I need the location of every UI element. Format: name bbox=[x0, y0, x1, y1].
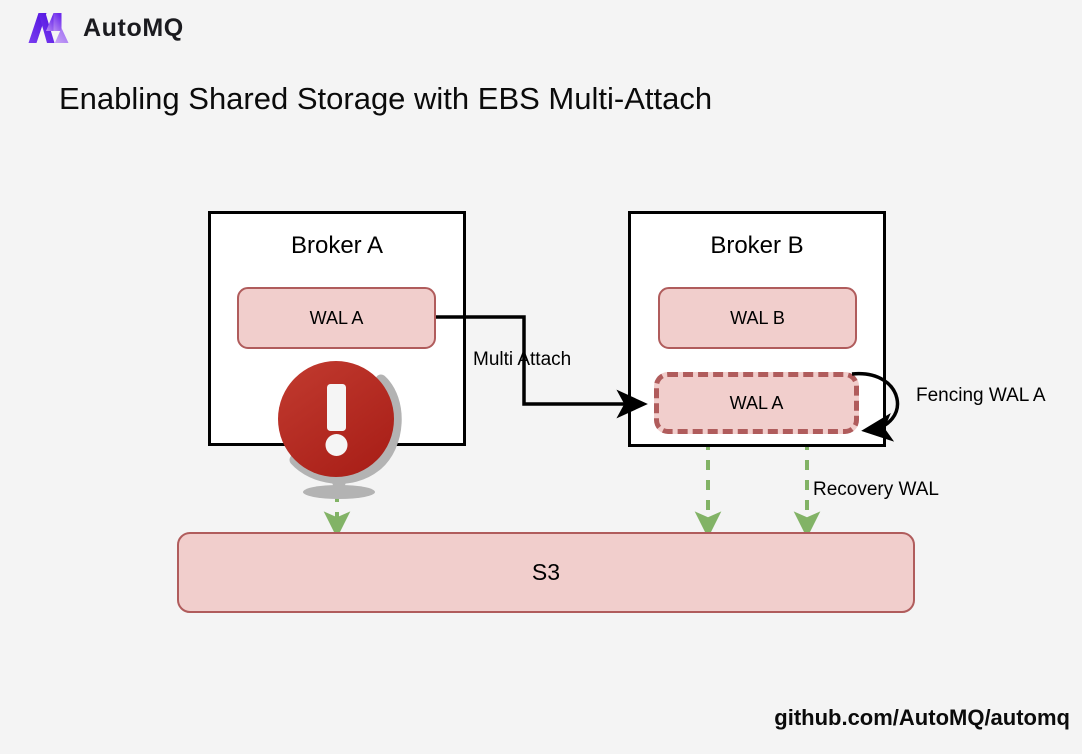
label-multi-attach: Multi Attach bbox=[473, 349, 571, 371]
wal-a-broker-a-box[interactable]: WAL A bbox=[237, 287, 436, 349]
exclamation-dot bbox=[326, 434, 348, 456]
black-arrow-layer bbox=[0, 0, 1082, 754]
broker-a-failure-icon-group bbox=[271, 356, 407, 508]
s3-label: S3 bbox=[532, 559, 560, 586]
broker-b-title: Broker B bbox=[631, 232, 883, 260]
label-fencing-wal-a: Fencing WAL A bbox=[916, 385, 1046, 407]
green-arrow-layer bbox=[0, 0, 1082, 754]
alert-exclamation-icon bbox=[271, 356, 407, 508]
wal-a-broker-b-box[interactable]: WAL A bbox=[654, 372, 859, 434]
label-recovery-wal: Recovery WAL bbox=[813, 479, 939, 501]
github-footer-link[interactable]: github.com/AutoMQ/automq bbox=[774, 705, 1070, 731]
s3-storage-box[interactable]: S3 bbox=[177, 532, 915, 613]
broker-a-title: Broker A bbox=[211, 232, 463, 260]
wal-a-broker-a-label: WAL A bbox=[310, 308, 364, 329]
wal-b-broker-b-box[interactable]: WAL B bbox=[658, 287, 857, 349]
diagram-canvas: Broker A WAL A Broker B WAL B WAL A S3 bbox=[0, 0, 1082, 754]
globe-stand-base bbox=[303, 485, 375, 499]
exclamation-bar bbox=[327, 384, 346, 431]
wal-b-broker-b-label: WAL B bbox=[730, 308, 785, 329]
wal-a-broker-b-label: WAL A bbox=[730, 393, 784, 414]
